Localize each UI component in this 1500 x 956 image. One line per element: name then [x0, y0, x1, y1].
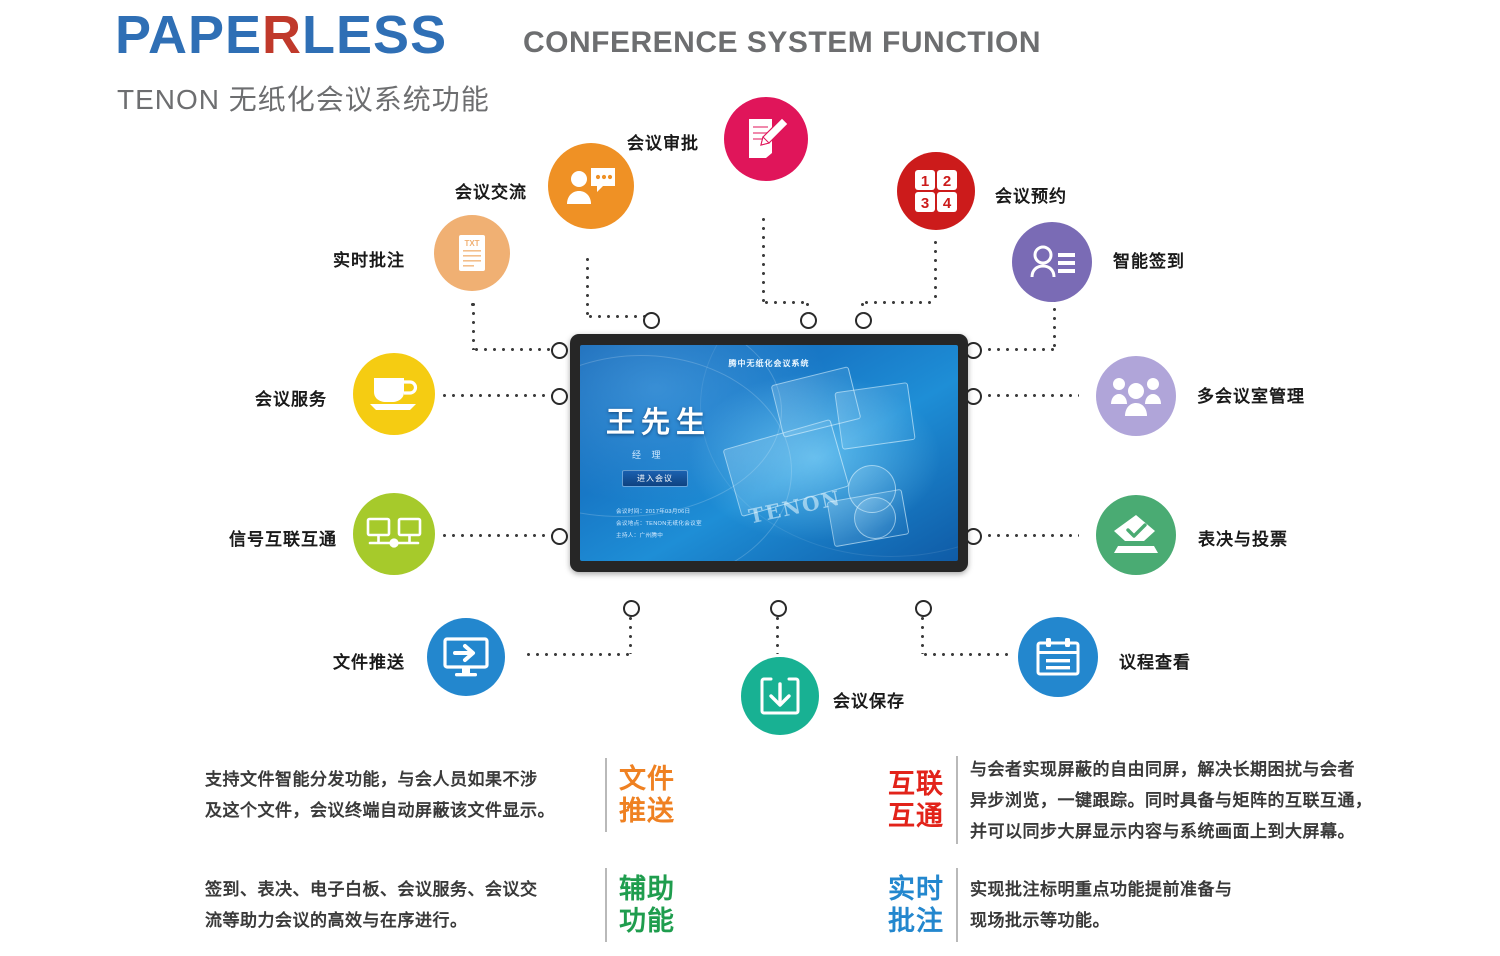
- node-label-file-push: 文件推送: [333, 648, 405, 673]
- person-chat-icon: [565, 164, 617, 208]
- connector-node: [551, 388, 568, 405]
- svg-text:1: 1: [921, 173, 929, 190]
- feature-body-line: 流等助力会议的高效与在序进行。: [205, 905, 593, 936]
- coffee-cup-icon: [368, 376, 420, 412]
- page-title: PAPERLESS: [115, 8, 447, 62]
- feature-block-file-push: 支持文件智能分发功能，与会人员如果不涉 及这个文件，会议终端自动屏蔽该文件显示。…: [205, 752, 675, 838]
- feature-tag-line: 功能: [619, 905, 675, 937]
- monitor-arrow-icon: [442, 636, 490, 678]
- screen-meta-time: 会议时间：2017年03月06日: [616, 507, 690, 515]
- feature-tag-line: 实时: [888, 873, 944, 905]
- connector-node: [855, 312, 872, 329]
- feature-body-line: 签到、表决、电子白板、会议服务、会议交: [205, 874, 593, 905]
- subtitle-chinese: TENON 无纸化会议系统功能: [117, 78, 490, 118]
- connector-line: [629, 614, 632, 654]
- feature-block-interconnect: 互联 互通 与会者实现屏蔽的自由同屏，解决长期困扰与会者 异步浏览，一键跟踪。同…: [888, 750, 1408, 850]
- tablet-screen[interactable]: TENON 腾中无纸化会议系统 王先生 经 理 进入会议 会议时间：2017年0…: [580, 345, 958, 561]
- node-multiroom-manage[interactable]: [1096, 356, 1176, 436]
- screen-user-role: 经 理: [632, 448, 665, 461]
- title-part-a: PAPE: [115, 5, 262, 65]
- node-label-meeting-approval: 会议审批: [627, 129, 699, 154]
- globe-decoration: [854, 497, 896, 539]
- feature-tag-line: 批注: [888, 905, 944, 937]
- feature-body-line: 异步浏览，一键跟踪。同时具备与矩阵的互联互通，: [970, 785, 1408, 816]
- feature-tag-line: 互联: [888, 768, 944, 800]
- title-part-r: R: [262, 5, 302, 65]
- node-meeting-approval[interactable]: [724, 97, 808, 181]
- node-meeting-save[interactable]: [741, 657, 819, 735]
- screen-meta-host: 主持人：广州腾中: [616, 531, 663, 539]
- node-label-meeting-exchange: 会议交流: [455, 178, 527, 203]
- node-label-multiroom-manage: 多会议室管理: [1197, 382, 1305, 407]
- connector-line: [862, 301, 936, 304]
- title-part-c: LESS: [302, 5, 447, 65]
- divider: [605, 868, 607, 942]
- connector-line: [806, 300, 809, 314]
- connector-line: [472, 348, 554, 351]
- ballot-check-icon: [1111, 513, 1161, 557]
- tablet-device: TENON 腾中无纸化会议系统 王先生 经 理 进入会议 会议时间：2017年0…: [570, 334, 968, 572]
- divider: [956, 868, 958, 942]
- divider: [605, 758, 607, 832]
- feature-tag: 辅助 功能: [619, 873, 675, 937]
- node-label-agenda-view: 议程查看: [1119, 648, 1191, 673]
- feature-block-auxiliary: 签到、表决、电子白板、会议服务、会议交 流等助力会议的高效与在序进行。 辅助 功…: [205, 862, 675, 948]
- node-agenda-view[interactable]: [1018, 617, 1098, 697]
- svg-text:4: 4: [943, 195, 952, 212]
- node-label-meeting-service: 会议服务: [255, 385, 327, 410]
- feature-body-line: 实现批注标明重点功能提前准备与: [970, 874, 1358, 905]
- people-group-icon: [1109, 374, 1163, 418]
- node-meeting-exchange[interactable]: [548, 143, 634, 229]
- connector-node: [551, 528, 568, 545]
- feature-tag: 文件 推送: [619, 763, 675, 827]
- feature-tag: 互联 互通: [888, 768, 944, 832]
- node-signal-interconnect[interactable]: [353, 493, 435, 575]
- person-list-icon: [1027, 244, 1077, 280]
- connector-line: [586, 315, 650, 318]
- screen-user-name: 王先生: [606, 399, 711, 441]
- feature-tag-line: 互通: [888, 800, 944, 832]
- screen-title: 腾中无纸化会议系统: [580, 358, 958, 369]
- number-grid-icon: 1 2 3 4: [913, 168, 959, 214]
- node-meeting-booking[interactable]: 1 2 3 4: [897, 152, 975, 230]
- connector-line: [921, 653, 1011, 656]
- connector-line: [934, 238, 937, 302]
- connector-line: [586, 255, 589, 317]
- screen-meta-place: 会议地点：TENON无纸化会议室: [616, 519, 702, 527]
- node-realtime-annotation[interactable]: TXT: [434, 215, 510, 291]
- feature-body-line: 并可以同步大屏显示内容与系统画面上到大屏幕。: [970, 816, 1408, 847]
- feature-block-annotation: 实时 批注 实现批注标明重点功能提前准备与 现场批示等功能。: [888, 862, 1358, 948]
- node-label-meeting-booking: 会议预约: [995, 182, 1067, 207]
- feature-tag-line: 推送: [619, 795, 675, 827]
- txt-document-icon: TXT: [457, 234, 487, 272]
- connector-line: [1053, 296, 1056, 350]
- calendar-icon: [1035, 636, 1081, 678]
- connector-node: [800, 312, 817, 329]
- node-label-vote-decision: 表决与投票: [1198, 525, 1288, 550]
- connector-line: [440, 394, 555, 397]
- dual-monitor-icon: [366, 517, 422, 551]
- feature-body-line: 现场批示等功能。: [970, 905, 1358, 936]
- subtitle-english: CONFERENCE SYSTEM FUNCTION: [523, 26, 1041, 60]
- node-file-push[interactable]: [427, 618, 505, 696]
- node-vote-decision[interactable]: [1096, 495, 1176, 575]
- screen-decoration: [834, 382, 915, 450]
- node-meeting-service[interactable]: [353, 353, 435, 435]
- svg-text:TXT: TXT: [464, 239, 479, 248]
- connector-line: [440, 534, 555, 537]
- connector-line: [861, 300, 864, 314]
- infographic-canvas: PAPERLESS CONFERENCE SYSTEM FUNCTION TEN…: [0, 0, 1500, 956]
- feature-body-line: 支持文件智能分发功能，与会人员如果不涉: [205, 764, 593, 795]
- connector-node: [551, 342, 568, 359]
- connector-node: [643, 312, 660, 329]
- svg-text:3: 3: [921, 195, 929, 212]
- connector-line: [985, 394, 1079, 397]
- connector-line: [762, 215, 765, 303]
- divider: [956, 756, 958, 844]
- download-box-icon: [759, 675, 801, 717]
- connector-line: [776, 614, 779, 654]
- enter-meeting-button[interactable]: 进入会议: [622, 470, 688, 487]
- connector-line: [985, 348, 1055, 351]
- connector-line: [471, 300, 474, 308]
- connector-line: [985, 534, 1079, 537]
- feature-tag: 实时 批注: [888, 873, 944, 937]
- feature-body-line: 与会者实现屏蔽的自由同屏，解决长期困扰与会者: [970, 754, 1408, 785]
- node-label-meeting-save: 会议保存: [833, 687, 905, 712]
- feature-tag-line: 辅助: [619, 873, 675, 905]
- node-label-signal-interconnect: 信号互联互通: [229, 525, 337, 550]
- svg-text:2: 2: [943, 173, 951, 190]
- connector-line: [921, 614, 924, 654]
- node-label-smart-signin: 智能签到: [1113, 247, 1185, 272]
- connector-line: [762, 301, 807, 304]
- doc-pencil-icon: [742, 116, 790, 162]
- node-smart-signin[interactable]: [1012, 222, 1092, 302]
- connector-line: [524, 653, 632, 656]
- node-label-realtime-annotation: 实时批注: [333, 246, 405, 271]
- feature-tag-line: 文件: [619, 763, 675, 795]
- feature-body-line: 及这个文件，会议终端自动屏蔽该文件显示。: [205, 795, 593, 826]
